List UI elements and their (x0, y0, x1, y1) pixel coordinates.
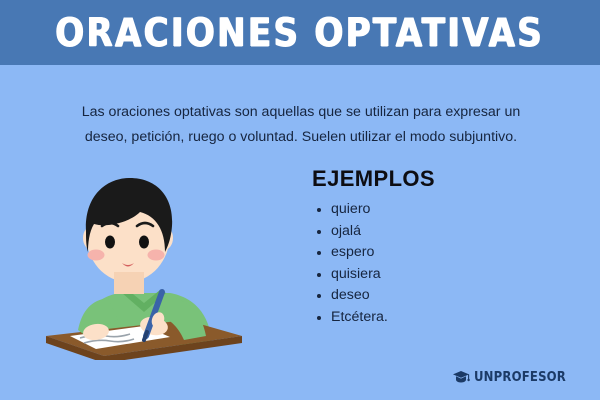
infographic-canvas: ORACIONES OPTATIVAS Las oraciones optati… (0, 0, 600, 400)
example-label: quisiera (331, 266, 381, 282)
example-label: ojalá (331, 223, 361, 239)
brand-name: UNPROFESOR (474, 371, 566, 384)
list-item: quiero (312, 199, 552, 221)
brand-logo: UNPROFESOR (452, 370, 576, 384)
list-item: espero (312, 242, 552, 264)
example-label: Etcétera. (331, 309, 388, 325)
examples-heading: EJEMPLOS (312, 168, 552, 190)
list-item: quisiera (312, 264, 552, 286)
neck (114, 272, 144, 294)
list-item: ojalá (312, 221, 552, 243)
blush-left (88, 250, 105, 261)
intro-paragraph: Las oraciones optativas son aquellas que… (62, 100, 540, 150)
blush-right (148, 250, 165, 261)
pen-tip (144, 332, 147, 340)
examples-section: EJEMPLOS quiero ojalá espero quisiera de… (312, 168, 552, 328)
eye-right (139, 236, 149, 249)
examples-list: quiero ojalá espero quisiera deseo Etcét… (312, 199, 552, 328)
eye-left (105, 236, 115, 249)
example-label: deseo (331, 287, 370, 303)
example-label: espero (331, 244, 374, 260)
example-label: quiero (331, 201, 370, 217)
page-title: ORACIONES OPTATIVAS (56, 13, 545, 52)
title-banner: ORACIONES OPTATIVAS (0, 0, 600, 65)
boy-writing-svg (34, 160, 254, 360)
graduation-cap-icon (452, 370, 470, 384)
list-item: deseo (312, 285, 552, 307)
illustration-boy-writing (34, 160, 254, 360)
list-item: Etcétera. (312, 307, 552, 329)
